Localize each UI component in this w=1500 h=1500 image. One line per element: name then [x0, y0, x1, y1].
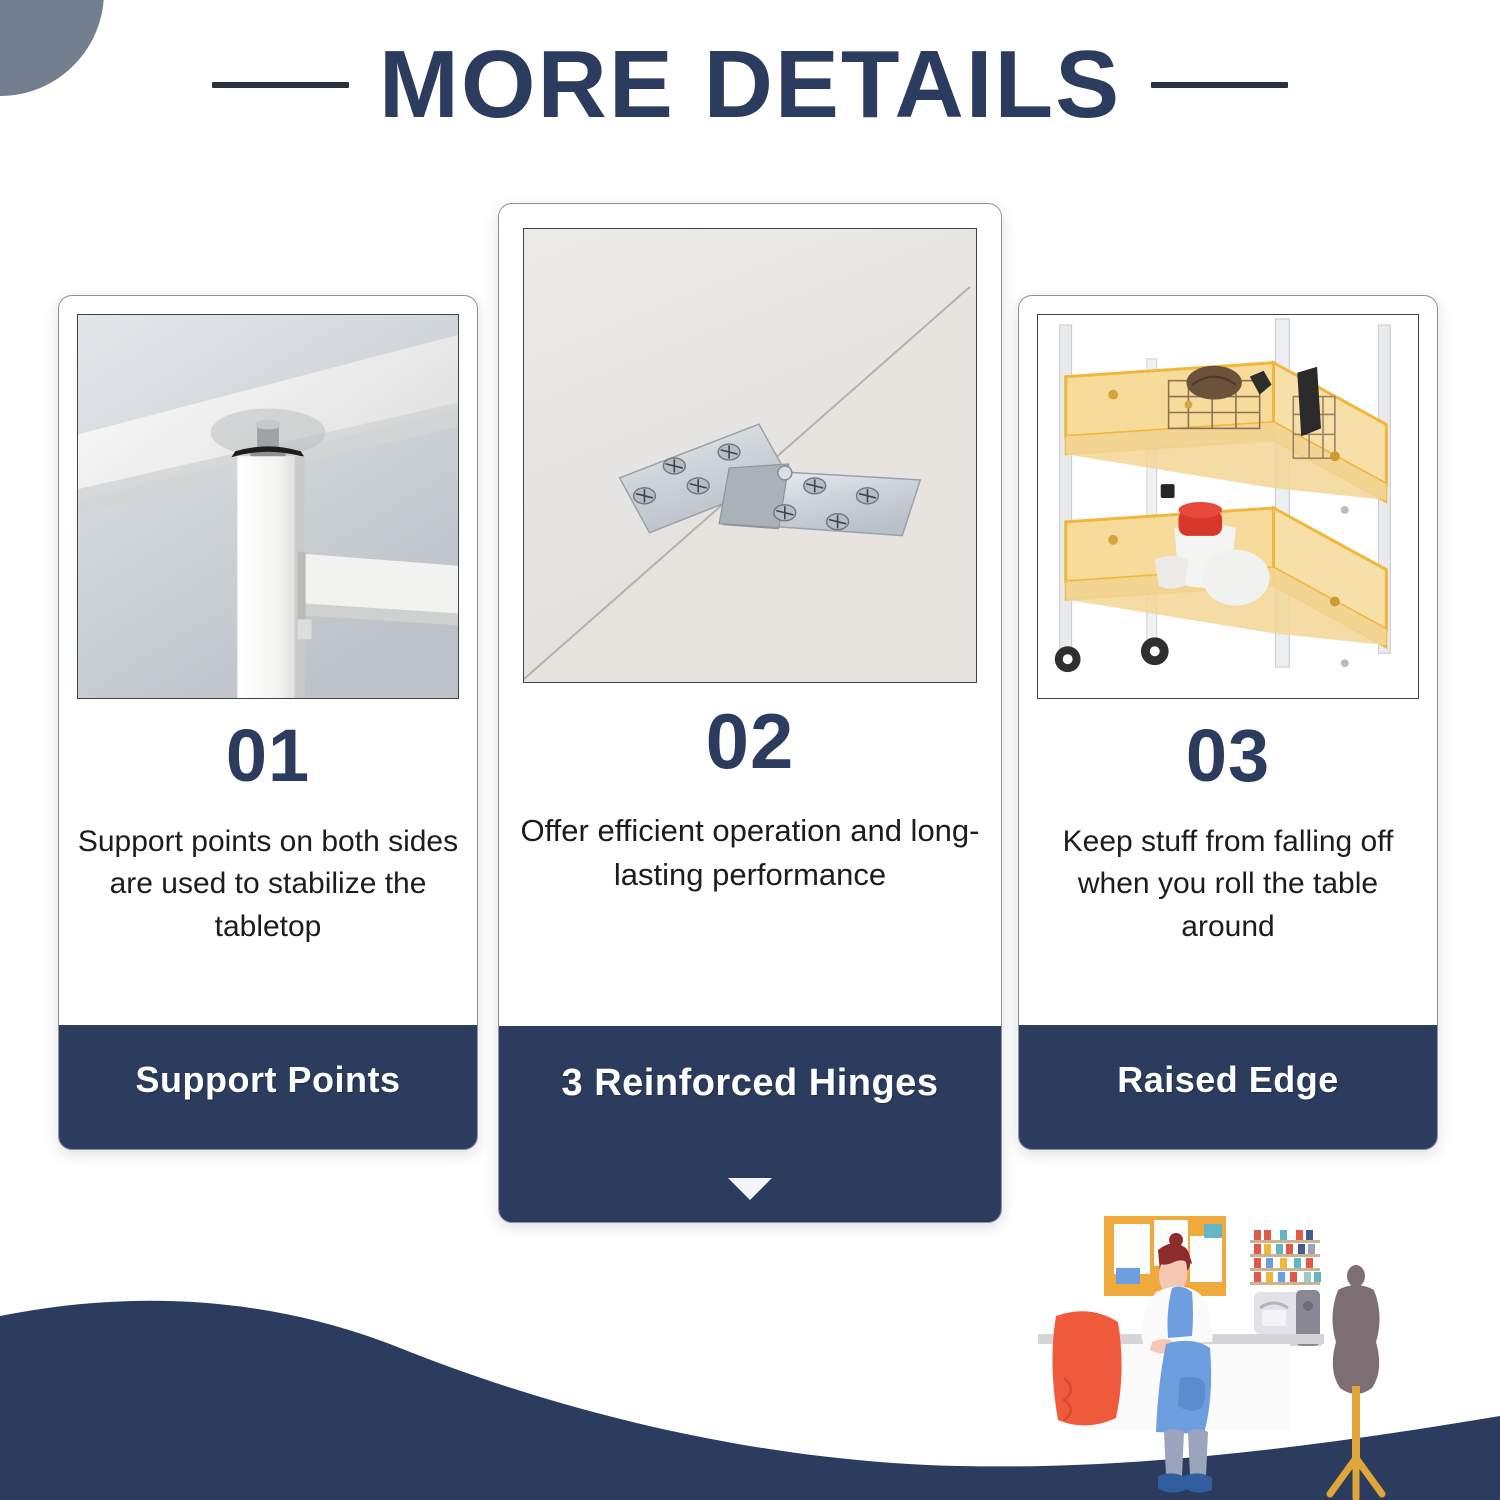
- card-2-description: Offer efficient operation and long-lasti…: [515, 809, 985, 897]
- hinge-photo: [523, 228, 977, 683]
- feature-card-2[interactable]: 02 Offer efficient operation and long-la…: [498, 203, 1002, 1223]
- card-2-number: 02: [515, 701, 985, 783]
- infographic-page: MORE DETAILS: [0, 0, 1500, 1500]
- feature-card-1[interactable]: 01 Support points on both sides are used…: [58, 295, 478, 1150]
- card-1-footer-label: Support Points: [59, 1025, 477, 1101]
- feature-cards: 01 Support points on both sides are used…: [0, 0, 1500, 1230]
- card-1-description: Support points on both sides are used to…: [75, 821, 461, 949]
- card-1-footer: Support Points: [59, 1025, 477, 1149]
- hinge-illustration: [524, 229, 976, 682]
- card-2-photo-wrap: [499, 204, 1001, 683]
- card-3-footer: Raised Edge: [1019, 1025, 1437, 1149]
- support-point-photo: [77, 314, 459, 699]
- card-3-footer-bulge: [1018, 1117, 1438, 1150]
- card-3-photo-wrap: [1019, 296, 1437, 699]
- card-2-footer: 3 Reinforced Hinges: [499, 1026, 1001, 1222]
- card-3-footer-label: Raised Edge: [1019, 1025, 1437, 1101]
- card-2-footer-label: 3 Reinforced Hinges: [499, 1026, 1001, 1105]
- support-point-illustration: [78, 315, 458, 698]
- card-3-body: 03 Keep stuff from falling off when you …: [1019, 699, 1437, 1025]
- card-1-footer-bulge: [58, 1117, 478, 1150]
- feature-card-3[interactable]: 03 Keep stuff from falling off when you …: [1018, 295, 1438, 1150]
- card-3-description: Keep stuff from falling off when you rol…: [1035, 821, 1421, 949]
- chevron-down-icon[interactable]: [728, 1178, 772, 1200]
- seamstress-illustration: [1038, 1206, 1468, 1500]
- raised-edge-illustration: [1038, 315, 1418, 698]
- card-1-photo-wrap: [59, 296, 477, 699]
- card-1-number: 01: [75, 717, 461, 795]
- card-1-body: 01 Support points on both sides are used…: [59, 699, 477, 1025]
- card-3-number: 03: [1035, 717, 1421, 795]
- card-2-body: 02 Offer efficient operation and long-la…: [499, 683, 1001, 1026]
- raised-edge-photo: [1037, 314, 1419, 699]
